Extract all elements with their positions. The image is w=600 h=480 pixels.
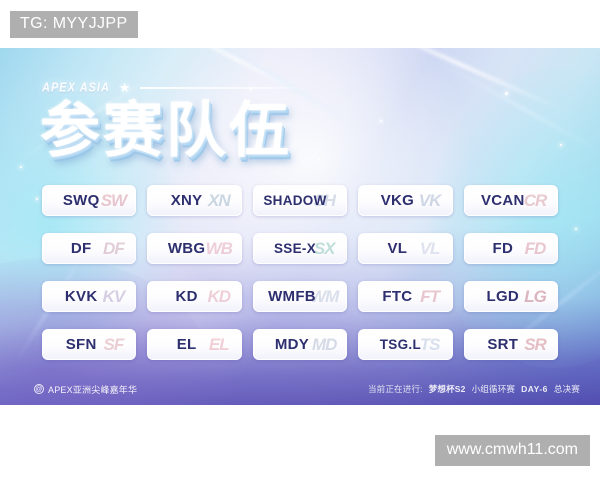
team-logo-icon: LG <box>518 284 552 310</box>
status-label: 当前正在进行: <box>368 383 423 395</box>
live-status: 当前正在进行: 梦想杯S2 小组循环赛 DAY-6 总决赛 <box>368 383 586 395</box>
team-pill[interactable]: ELEL <box>147 329 241 360</box>
team-logo-icon: VL <box>413 236 447 262</box>
team-pill[interactable]: WBWBG <box>147 233 241 264</box>
team-pill[interactable]: VLVL <box>358 233 452 264</box>
top-left-watermark: TG: MYYJJPP <box>10 11 138 38</box>
screenshot-root: APEX ASIA ★ 参赛队伍 SWSWQXNXNYSHSHADOWVKVKG… <box>0 0 600 480</box>
team-name: SFN <box>66 336 97 353</box>
team-logo-icon: FD <box>518 236 552 262</box>
team-logo-icon: KV <box>96 284 130 310</box>
sparkle-icon <box>380 120 382 122</box>
bottom-right-watermark: www.cmwh11.com <box>435 435 590 466</box>
team-logo-icon: EL <box>202 332 236 358</box>
sparkle-icon <box>505 92 508 95</box>
team-pill[interactable]: WMWMFB <box>253 281 347 312</box>
team-logo-icon: SW <box>96 188 130 214</box>
team-logo-icon: XN <box>202 188 236 214</box>
team-name: MDY <box>275 336 309 353</box>
sparkle-icon <box>575 228 577 230</box>
poster-eyebrow: APEX ASIA ★ <box>42 81 298 94</box>
team-name: FTC <box>382 288 412 305</box>
team-pill[interactable]: CRVCAN <box>464 185 558 216</box>
sparkle-icon <box>20 166 22 168</box>
team-name: KVK <box>65 288 98 305</box>
sparkle-icon <box>318 158 320 160</box>
team-pill[interactable]: TSTSG.L <box>358 329 452 360</box>
team-pill[interactable]: MDMDY <box>253 329 347 360</box>
team-logo-icon: FT <box>413 284 447 310</box>
team-pill[interactable]: LGLGD <box>464 281 558 312</box>
team-name: LGD <box>487 288 520 305</box>
team-name: EL <box>177 336 197 353</box>
eyebrow-divider <box>140 87 298 89</box>
team-name: WMFB <box>268 288 316 305</box>
team-pill[interactable]: KVKVK <box>42 281 136 312</box>
team-name: VL <box>388 240 408 257</box>
teams-grid: SWSWQXNXNYSHSHADOWVKVKGCRVCANDFDFWBWBGSX… <box>42 185 558 360</box>
at-icon: @ <box>34 384 44 394</box>
account-credit: @ APEX亚洲尖峰嘉年华 <box>34 383 137 396</box>
team-pill[interactable]: SFSFN <box>42 329 136 360</box>
day-label: DAY-6 <box>521 384 548 394</box>
team-pill[interactable]: KDKD <box>147 281 241 312</box>
team-pill[interactable]: DFDF <box>42 233 136 264</box>
sparkle-icon <box>560 144 562 146</box>
team-pill[interactable]: SHSHADOW <box>253 185 347 216</box>
team-pill[interactable]: XNXNY <box>147 185 241 216</box>
team-name: WBG <box>168 240 206 257</box>
team-name: FD <box>492 240 513 257</box>
team-name: SWQ <box>63 192 100 209</box>
light-streak-icon <box>432 58 600 157</box>
round-name: 小组循环赛 <box>472 383 516 395</box>
star-icon: ★ <box>119 81 131 94</box>
stage-name: 梦想杯S2 <box>429 383 466 395</box>
team-logo-icon: WB <box>202 236 236 262</box>
team-name: VCAN <box>481 192 525 209</box>
sparkle-icon <box>36 198 38 200</box>
team-name: SHADOW <box>263 193 326 208</box>
account-name: APEX亚洲尖峰嘉年华 <box>48 383 137 396</box>
phase-label: 总决赛 <box>554 383 580 395</box>
team-logo-icon: MD <box>307 332 341 358</box>
team-logo-icon: SF <box>96 332 130 358</box>
team-name: VKG <box>381 192 414 209</box>
light-streak-icon <box>340 48 570 115</box>
team-pill[interactable]: SXSSE-X <box>253 233 347 264</box>
team-name: TSG.L <box>380 337 421 352</box>
team-logo-icon: VK <box>413 188 447 214</box>
team-logo-icon: DF <box>96 236 130 262</box>
team-pill[interactable]: FTFTC <box>358 281 452 312</box>
tournament-poster: APEX ASIA ★ 参赛队伍 SWSWQXNXNYSHSHADOWVKVKG… <box>0 48 600 405</box>
team-logo-icon: KD <box>202 284 236 310</box>
eyebrow-label: APEX ASIA <box>42 81 110 95</box>
team-logo-icon: SR <box>518 332 552 358</box>
team-pill[interactable]: VKVKG <box>358 185 452 216</box>
team-name: XNY <box>171 192 203 209</box>
team-pill[interactable]: SRSRT <box>464 329 558 360</box>
team-name: KD <box>175 288 197 305</box>
poster-footer: @ APEX亚洲尖峰嘉年华 当前正在进行: 梦想杯S2 小组循环赛 DAY-6 … <box>0 373 600 405</box>
team-name: SRT <box>487 336 518 353</box>
team-name: DF <box>71 240 92 257</box>
team-pill[interactable]: SWSWQ <box>42 185 136 216</box>
team-pill[interactable]: FDFD <box>464 233 558 264</box>
team-name: SSE-X <box>274 241 316 256</box>
page-title: 参赛队伍 <box>40 96 292 166</box>
